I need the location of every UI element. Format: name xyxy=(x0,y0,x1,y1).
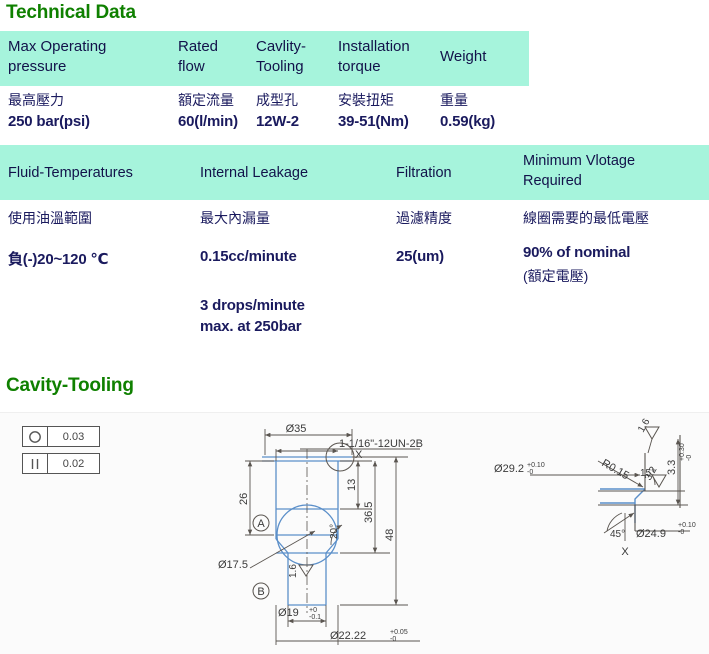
circularity-icon xyxy=(23,427,48,446)
geometric-tolerance-frames: 0.03 0.02 xyxy=(22,426,100,480)
tolerance-value: 0.03 xyxy=(48,427,99,446)
table2-header-fluid-temperatures: Fluid-Temperatures xyxy=(8,163,133,183)
dimension-label-r0-15: R0.15 xyxy=(600,457,631,482)
dimension-label-o19: Ø19 xyxy=(278,607,299,619)
dimension-label-20deg: 20° xyxy=(329,524,340,539)
dimension-label-o22-22: Ø22.22 xyxy=(330,630,366,642)
table2-data-row: 使用油溫範圍 負(-)20~120 ℃ 最大內漏量 0.15cc/minute … xyxy=(0,200,709,360)
cavity-tooling-drawing-panel: 0.03 0.02 xyxy=(0,412,709,654)
surface-finish-label-1-6: 1.6 xyxy=(636,417,653,435)
table1-data-row: 最高壓力 250 bar(psi) 額定流量 60(l/min) 成型孔 12W… xyxy=(0,86,529,141)
table1-cell-weight: 重量 0.59(kg) xyxy=(440,89,495,133)
table1-cell-pressure: 最高壓力 250 bar(psi) xyxy=(8,89,90,133)
cell-value-1: 負(-)20~120 ℃ xyxy=(8,248,108,269)
datum-b-label: B xyxy=(257,586,264,598)
header-line-2: torque xyxy=(338,57,410,77)
datum-a-label: A xyxy=(257,518,265,530)
cell-label-cn: 重量 xyxy=(440,89,495,111)
header-line-2: Required xyxy=(523,171,635,191)
leader-o17-5 xyxy=(250,531,315,568)
cell-label-cn: 成型孔 xyxy=(256,89,299,111)
header-line-2: flow xyxy=(178,57,218,77)
table1-cell-installation-torque: 安裝扭矩 39-51(Nm) xyxy=(338,89,409,133)
tolerance-frame-parallelism: 0.02 xyxy=(22,453,100,474)
cell-value: 0.59(kg) xyxy=(440,111,495,133)
header-line-1: Cavlity- xyxy=(256,37,306,57)
cell-value: 250 bar(psi) xyxy=(8,111,90,133)
dimension-label-3-3: 3.3 xyxy=(666,460,678,475)
tolerance-o19-upper: +0 xyxy=(309,607,317,614)
table1-header-cavlity-tooling: Cavlity- Tooling xyxy=(256,37,306,77)
table1-cell-rated-flow: 額定流量 60(l/min) xyxy=(178,89,238,133)
dimension-label-o24-9: Ø24.9 xyxy=(636,528,666,540)
table1-header-installation-torque: Installation torque xyxy=(338,37,410,77)
cell-value-3: max. at 250bar xyxy=(200,318,301,335)
cell-label-cn: 最高壓力 xyxy=(8,89,90,111)
cell-value: 60(l/min) xyxy=(178,111,238,133)
technical-data-heading: Technical Data xyxy=(6,2,136,24)
table1-header-row: Max Operating pressure Rated flow Cavlit… xyxy=(0,31,529,86)
cell-label-cn: 最大內漏量 xyxy=(200,208,270,228)
tolerance-o249-upper: +0.10 xyxy=(678,522,696,529)
parallelism-icon xyxy=(23,454,48,473)
datum-b: B xyxy=(253,583,269,599)
cell-label-cn: 額定流量 xyxy=(178,89,238,111)
header-line-1: Max Operating xyxy=(8,37,106,57)
tolerance-value: 0.02 xyxy=(48,454,99,473)
cell-value-1: 25(um) xyxy=(396,248,444,265)
cell-label-cn: 安裝扭矩 xyxy=(338,89,409,111)
cavity-tooling-heading: Cavity-Tooling xyxy=(6,375,134,397)
tolerance-o292-lower: -0 xyxy=(527,469,533,476)
detail-view-x-label: X xyxy=(621,546,629,558)
cell-label-cn: 過濾精度 xyxy=(396,208,452,228)
dimension-label-45deg: 45° xyxy=(610,529,625,540)
tolerance-o2222-upper: +0.05 xyxy=(390,629,408,636)
tolerance-33-lower: -0 xyxy=(686,455,693,461)
table2-header-filtration: Filtration xyxy=(396,163,452,183)
table2-header-row: Fluid-Temperatures Internal Leakage Filt… xyxy=(0,145,709,200)
header-line-1: Weight xyxy=(440,47,486,67)
table1-header-rated-flow: Rated flow xyxy=(178,37,218,77)
header-line-1: Minimum Vlotage xyxy=(523,151,635,171)
dimension-label-o35: Ø35 xyxy=(286,423,307,435)
cell-value-1: 90% of nominal xyxy=(523,244,630,261)
header-line-2: Tooling xyxy=(256,57,306,77)
cell-value: 12W-2 xyxy=(256,111,299,133)
dimension-label-o29-2: Ø29.2 xyxy=(494,463,524,475)
table1-header-weight: Weight xyxy=(440,47,486,67)
detail-surface-finish-1-6: 1.6 xyxy=(636,417,659,453)
dimension-label-26: 26 xyxy=(238,493,250,505)
cell-value-2: (額定電壓) xyxy=(523,266,588,286)
cell-value: 39-51(Nm) xyxy=(338,111,409,133)
header-line-2: pressure xyxy=(8,57,106,77)
detail-view-x: Ø29.2 +0.10 -0 15° R0.15 1.6 3.2 xyxy=(494,417,696,654)
cell-value-2: 3 drops/minute xyxy=(200,297,305,314)
table1-header-max-operating-pressure: Max Operating pressure xyxy=(8,37,106,77)
technical-data-table-primary: Max Operating pressure Rated flow Cavlit… xyxy=(0,31,529,141)
cavity-tooling-technical-drawing: X Ø35 1-1/16"-12UN-2B 26 xyxy=(0,413,709,654)
dimension-label-13: 13 xyxy=(346,479,358,491)
dimension-label-36-5: 36.5 xyxy=(363,502,375,523)
detail-marker-label: X xyxy=(355,449,363,461)
detail-dimension-lines xyxy=(598,435,688,531)
table2-header-internal-leakage: Internal Leakage xyxy=(200,163,308,183)
cell-value-1: 0.15cc/minute xyxy=(200,248,297,265)
header-line-1: Rated xyxy=(178,37,218,57)
cell-label-cn: 線圈需要的最低電壓 xyxy=(523,208,649,228)
thread-callout-label: 1-1/16"-12UN-2B xyxy=(339,438,423,450)
surface-finish-1-6: 1.6 xyxy=(288,564,313,578)
datum-a: A xyxy=(253,515,269,531)
technical-data-table-secondary: Fluid-Temperatures Internal Leakage Filt… xyxy=(0,145,709,360)
cell-label-cn: 使用油溫範圍 xyxy=(8,208,92,228)
table2-header-minimum-voltage: Minimum Vlotage Required xyxy=(523,151,635,191)
tolerance-33-upper: +0.30 xyxy=(679,443,686,461)
tolerance-o292-upper: +0.10 xyxy=(527,462,545,469)
dimension-label-48: 48 xyxy=(384,529,396,541)
surface-finish-label: 1.6 xyxy=(288,564,299,578)
tolerance-o249-lower: -0 xyxy=(678,529,684,536)
tolerance-o2222-lower: -0 xyxy=(390,636,396,643)
tolerance-o19-lower: -0.1 xyxy=(309,614,321,621)
main-section-view: X Ø35 1-1/16"-12UN-2B 26 xyxy=(218,423,423,645)
dimension-label-o17-5: Ø17.5 xyxy=(218,559,248,571)
table1-cell-cavity-tooling: 成型孔 12W-2 xyxy=(256,89,299,133)
tolerance-frame-circularity: 0.03 xyxy=(22,426,100,447)
header-line-1: Installation xyxy=(338,37,410,57)
detail-profile xyxy=(598,489,645,654)
